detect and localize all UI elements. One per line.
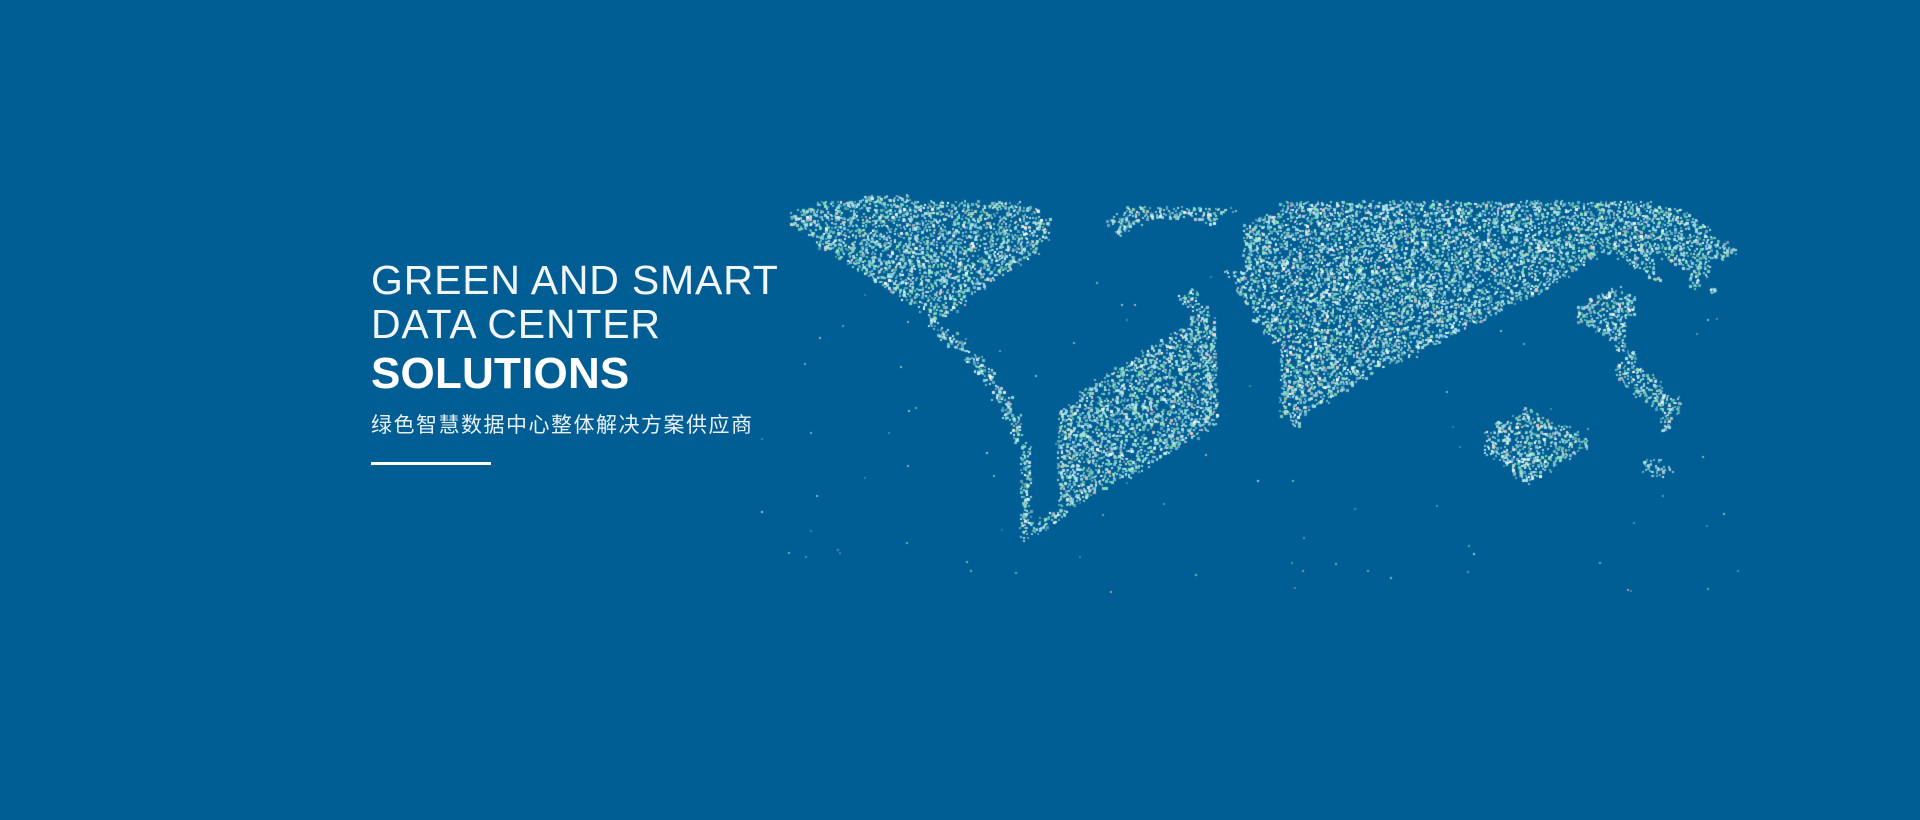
headline-line-1: GREEN AND SMART [371,258,1131,302]
accent-rule [371,462,491,465]
subheadline: 绿色智慧数据中心整体解决方案供应商 [371,412,1131,440]
headline-line-2: DATA CENTER [371,302,1131,346]
headline-line-3: SOLUTIONS [371,348,1131,400]
hero-banner: GREEN AND SMART DATA CENTER SOLUTIONS 绿色… [0,0,1920,820]
hero-text-block: GREEN AND SMART DATA CENTER SOLUTIONS 绿色… [371,258,1131,465]
